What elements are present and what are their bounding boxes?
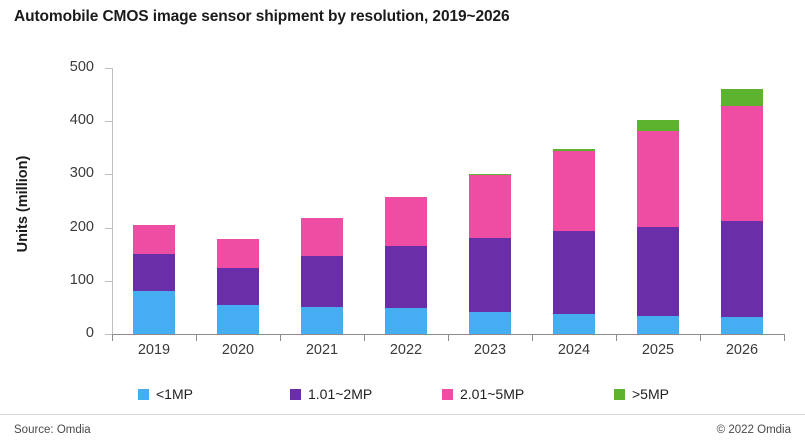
x-tick [196, 334, 197, 341]
bar-segment[interactable] [133, 291, 175, 334]
x-axis-label: 2024 [532, 342, 616, 358]
x-axis-label: 2025 [616, 342, 700, 358]
legend-item[interactable]: >5MP [614, 386, 669, 402]
x-axis-label: 2019 [112, 342, 196, 358]
x-tick [448, 334, 449, 341]
y-tick-label: 0 [34, 325, 94, 341]
bar-segment[interactable] [721, 89, 763, 106]
legend-label: >5MP [632, 386, 669, 402]
bar-segment[interactable] [721, 317, 763, 334]
bar-segment[interactable] [217, 239, 259, 267]
bar-group[interactable] [721, 68, 763, 334]
bar-group[interactable] [385, 68, 427, 334]
bar-segment[interactable] [301, 218, 343, 256]
bar-segment[interactable] [637, 131, 679, 227]
bar-group[interactable] [133, 68, 175, 334]
legend-item[interactable]: <1MP [138, 386, 193, 402]
bar-segment[interactable] [133, 254, 175, 291]
bar-segment[interactable] [385, 308, 427, 334]
x-axis-label: 2021 [280, 342, 364, 358]
legend-label: 1.01~2MP [308, 386, 372, 402]
y-tick-label: 200 [34, 219, 94, 235]
bar-segment[interactable] [217, 268, 259, 305]
bar-segment[interactable] [553, 314, 595, 334]
bar-group[interactable] [469, 68, 511, 334]
stacked-bar[interactable] [301, 218, 343, 334]
x-tick [112, 334, 113, 341]
y-tick [105, 174, 112, 175]
x-axis-label: 2026 [700, 342, 784, 358]
legend-swatch-icon [614, 389, 625, 400]
y-tick [105, 68, 112, 69]
stacked-bar[interactable] [469, 174, 511, 334]
bar-segment[interactable] [301, 256, 343, 308]
bar-segment[interactable] [553, 151, 595, 231]
stacked-bar[interactable] [217, 239, 259, 334]
x-tick [700, 334, 701, 341]
x-tick [616, 334, 617, 341]
bar-segment[interactable] [217, 305, 259, 334]
legend-item[interactable]: 2.01~5MP [442, 386, 524, 402]
copyright-text: © 2022 Omdia [717, 424, 791, 436]
bar-group[interactable] [637, 68, 679, 334]
x-axis-label: 2023 [448, 342, 532, 358]
legend-swatch-icon [138, 389, 149, 400]
x-axis-label: 2022 [364, 342, 448, 358]
stacked-bar[interactable] [553, 149, 595, 334]
bar-segment[interactable] [469, 175, 511, 238]
bar-segment[interactable] [385, 246, 427, 309]
y-tick-label: 500 [34, 59, 94, 75]
footer-divider [0, 414, 805, 415]
bar-segment[interactable] [385, 197, 427, 246]
bar-segment[interactable] [637, 316, 679, 334]
bar-segment[interactable] [133, 225, 175, 254]
y-tick [105, 334, 112, 335]
bar-segment[interactable] [637, 120, 679, 131]
x-tick [784, 334, 785, 341]
bar-segment[interactable] [469, 238, 511, 312]
page-title: Automobile CMOS image sensor shipment by… [14, 8, 510, 26]
stacked-bar[interactable] [721, 89, 763, 334]
bar-group[interactable] [553, 68, 595, 334]
plot-area: 0100200300400500 20192020202120222023202… [112, 68, 784, 334]
bar-segment[interactable] [721, 106, 763, 221]
x-tick [280, 334, 281, 341]
bar-segment[interactable] [469, 312, 511, 334]
y-axis-title: Units (million) [15, 109, 31, 299]
y-tick-label: 300 [34, 165, 94, 181]
bar-segment[interactable] [553, 231, 595, 313]
stacked-bar[interactable] [385, 197, 427, 334]
source-text: Source: Omdia [14, 424, 91, 436]
bar-segment[interactable] [721, 221, 763, 317]
bar-segment[interactable] [301, 307, 343, 334]
bar-segment[interactable] [637, 227, 679, 316]
legend-swatch-icon [442, 389, 453, 400]
legend-label: 2.01~5MP [460, 386, 524, 402]
legend-label: <1MP [156, 386, 193, 402]
y-tick [105, 121, 112, 122]
y-tick-label: 100 [34, 272, 94, 288]
stacked-bar[interactable] [133, 225, 175, 334]
legend: <1MP1.01~2MP2.01~5MP>5MP [138, 386, 738, 404]
stacked-bar[interactable] [637, 120, 679, 334]
y-axis-line [112, 68, 113, 334]
y-tick-label: 400 [34, 112, 94, 128]
x-axis-label: 2020 [196, 342, 280, 358]
legend-swatch-icon [290, 389, 301, 400]
x-tick [364, 334, 365, 341]
legend-item[interactable]: 1.01~2MP [290, 386, 372, 402]
y-tick [105, 281, 112, 282]
bar-group[interactable] [217, 68, 259, 334]
x-tick [532, 334, 533, 341]
y-tick [105, 228, 112, 229]
bar-group[interactable] [301, 68, 343, 334]
